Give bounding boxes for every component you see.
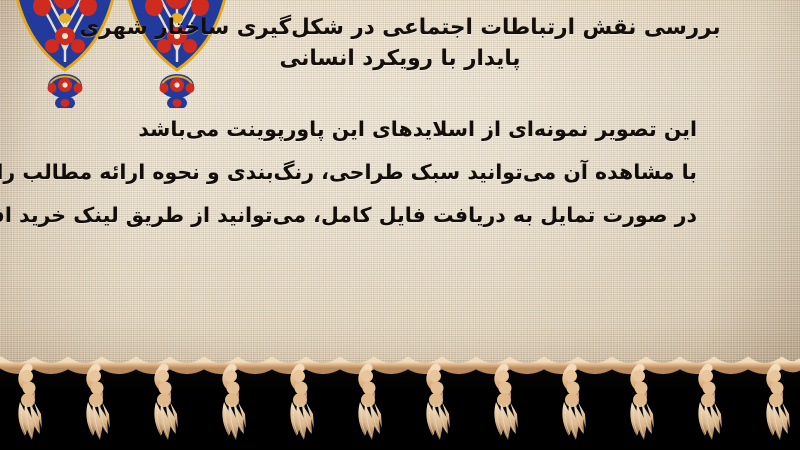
slide-title: بررسی نقش ارتباطات اجتماعی در شکل‌گیری س… bbox=[0, 12, 800, 74]
slide-canvas: بررسی نقش ارتباطات اجتماعی در شکل‌گیری س… bbox=[0, 0, 800, 450]
slide-title-line-2: پایدار با رویکرد انسانی bbox=[26, 43, 774, 74]
slide-body: این تصویر نمونه‌ای از اسلایدهای این پاور… bbox=[97, 108, 697, 237]
carpet-knotted-fringe bbox=[0, 354, 800, 450]
body-line-1: این تصویر نمونه‌ای از اسلایدهای این پاور… bbox=[97, 108, 697, 151]
ornament-pendant bbox=[160, 74, 195, 108]
body-line-2: با مشاهده آن می‌توانید سبک طراحی، رنگ‌بن… bbox=[97, 151, 697, 194]
ornament-pendant bbox=[48, 74, 83, 108]
slide-title-line-1: بررسی نقش ارتباطات اجتماعی در شکل‌گیری س… bbox=[79, 15, 720, 40]
body-line-3: در صورت تمایل به دریافت فایل کامل، می‌تو… bbox=[97, 194, 697, 237]
